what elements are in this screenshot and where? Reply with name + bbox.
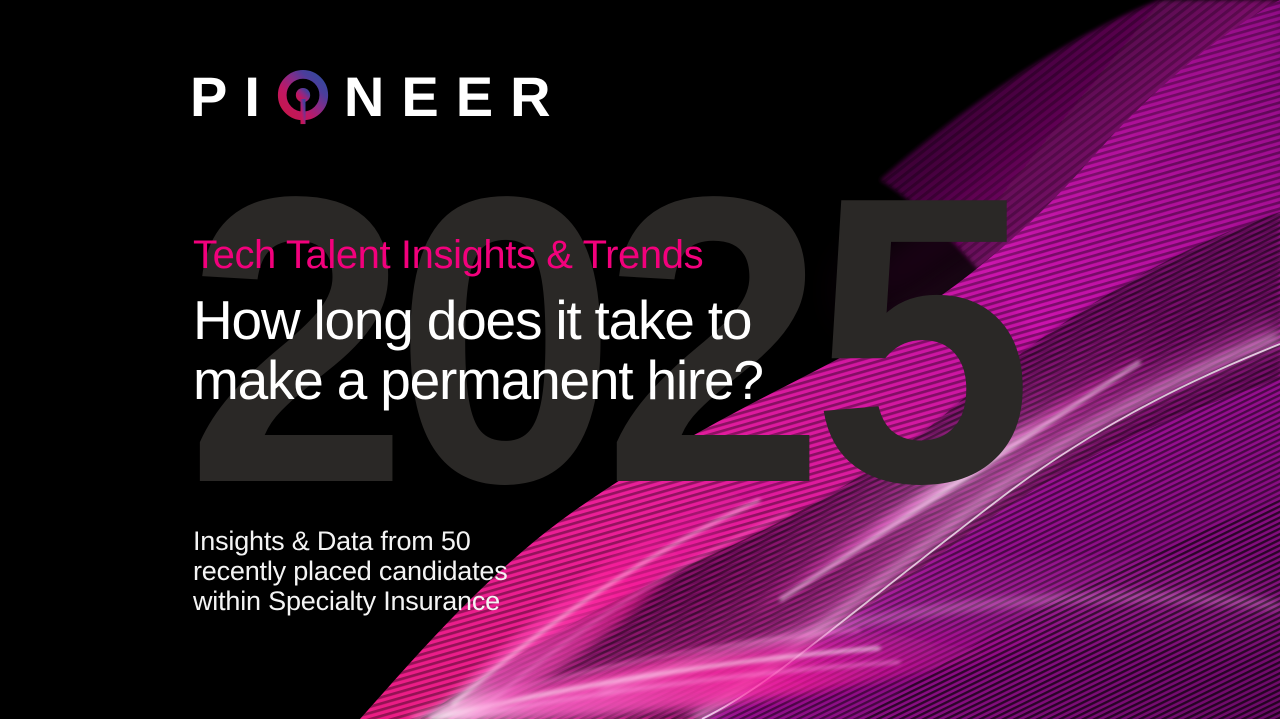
slide-canvas: 2025 PI NEER Tech Talent Insig: [0, 0, 1280, 719]
headline-block: Tech Talent Insights & Trends How long d…: [193, 232, 853, 410]
eyebrow-text: Tech Talent Insights & Trends: [193, 232, 853, 278]
pioneer-o-mark: [277, 70, 329, 126]
logo-letters-right: NEER: [344, 69, 568, 125]
page-title: How long does it take to make a permanen…: [193, 290, 853, 410]
subcopy-line-2: recently placed candidates: [193, 556, 508, 586]
subcopy-line-1: Insights & Data from 50: [193, 526, 508, 556]
headline-line-2: make a permanent hire?: [193, 350, 853, 410]
subcopy-line-3: within Specialty Insurance: [193, 586, 508, 616]
pioneer-logo[interactable]: PI NEER: [190, 66, 568, 128]
wave-soft-highlight: [560, 597, 1280, 700]
headline-line-1: How long does it take to: [193, 290, 853, 350]
logo-letters-left: PI: [190, 69, 277, 125]
subcopy-block: Insights & Data from 50 recently placed …: [193, 526, 508, 616]
